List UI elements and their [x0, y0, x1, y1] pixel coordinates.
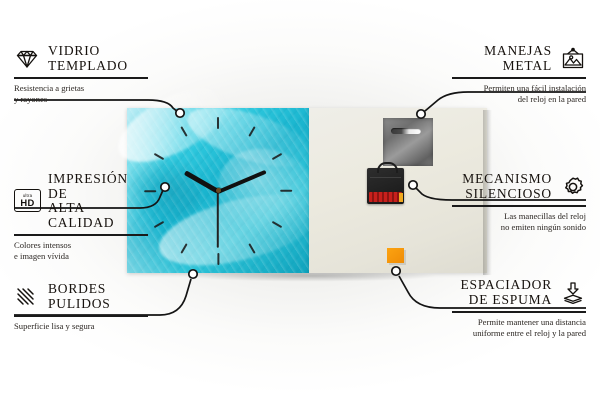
- callout-description: Colores intensos e imagen vívida: [14, 240, 148, 262]
- callout-vidrio-templado: VIDRIO TEMPLADO Resistencia a grietas y …: [14, 44, 148, 105]
- callout-description: Resistencia a grietas y rayones: [14, 83, 148, 105]
- callout-impresion-alta-calidad: ultra HD IMPRESIÓN DE ALTA CALIDAD Color…: [14, 172, 148, 262]
- clock-tick: [248, 126, 255, 137]
- clock-tick: [154, 152, 165, 159]
- metal-hanger-plate: [383, 118, 433, 166]
- callout-title: MECANISMO SILENCIOSO: [462, 172, 552, 201]
- ultra-hd-icon: ultra HD: [14, 189, 40, 213]
- callout-header: BORDES PULIDOS: [14, 282, 148, 311]
- feather-highlight: [152, 181, 327, 279]
- clock-center-pin: [216, 188, 221, 193]
- callout-rule: [14, 315, 148, 317]
- callout-title: ESPACIADOR DE ESPUMA: [460, 278, 552, 307]
- callout-header: MANEJAS METAL: [452, 44, 586, 73]
- clock-tick: [248, 244, 255, 255]
- product-image: [127, 108, 487, 273]
- mechanism-loop: [377, 162, 398, 173]
- battery-terminal: [399, 193, 403, 202]
- diamond-icon: [14, 47, 40, 71]
- callout-title: IMPRESIÓN DE ALTA CALIDAD: [48, 172, 148, 230]
- clock-minute-hand: [217, 170, 266, 194]
- callout-title: MANEJAS METAL: [484, 44, 552, 73]
- callout-description: Permite mantener una distancia uniforme …: [452, 317, 586, 339]
- callout-rule: [452, 311, 586, 313]
- clock-tick: [217, 117, 219, 129]
- callout-rule: [14, 77, 148, 79]
- clock-tick: [272, 220, 283, 227]
- ultra-hd-icon-label: HD: [20, 198, 34, 207]
- foam-spacer: [387, 248, 404, 263]
- clock-hour-hand: [184, 170, 219, 193]
- clock-front-panel: [127, 108, 309, 273]
- callout-rule: [452, 205, 586, 207]
- arrow-onto-layers-icon: [560, 281, 586, 305]
- callout-title: BORDES PULIDOS: [48, 282, 111, 311]
- clock-tick: [154, 220, 165, 227]
- clock-second-hand: [217, 192, 219, 248]
- mechanism-seam: [370, 177, 401, 178]
- callout-header: ultra HD IMPRESIÓN DE ALTA CALIDAD: [14, 172, 148, 230]
- infographic-canvas: VIDRIO TEMPLADO Resistencia a grietas y …: [0, 0, 600, 400]
- clock-tick: [180, 244, 187, 255]
- callout-manejas-metal: MANEJAS METAL Permiten una fácil instala…: [452, 44, 586, 105]
- battery-compartment: [369, 192, 402, 202]
- clock-tick: [217, 253, 219, 265]
- callout-header: MECANISMO SILENCIOSO: [452, 172, 586, 201]
- callout-header: VIDRIO TEMPLADO: [14, 44, 148, 73]
- callout-bordes-pulidos: BORDES PULIDOS Superficie lisa y segura: [14, 282, 148, 332]
- callout-description: Permiten una fácil instalación del reloj…: [452, 83, 586, 105]
- callout-espaciador-de-espuma: ESPACIADOR DE ESPUMA Permite mantener un…: [452, 278, 586, 339]
- callout-description: Las manecillas del reloj no emiten ningú…: [452, 211, 586, 233]
- feather-highlight: [181, 95, 319, 179]
- clock-mechanism: [367, 168, 404, 204]
- clock-tick: [280, 189, 292, 191]
- callout-description: Superficie lisa y segura: [14, 321, 148, 332]
- picture-frame-hanger-icon: [560, 47, 586, 71]
- callout-header: ESPACIADOR DE ESPUMA: [452, 278, 586, 307]
- clock-tick: [272, 152, 283, 159]
- polished-edges-icon: [14, 285, 40, 309]
- callout-rule: [452, 77, 586, 79]
- callout-mecanismo-silencioso: MECANISMO SILENCIOSO Las manecillas del …: [452, 172, 586, 233]
- gear-icon: [560, 175, 586, 199]
- hanger-slot: [391, 128, 421, 134]
- callout-rule: [14, 234, 148, 236]
- clock-tick: [180, 126, 187, 137]
- callout-title: VIDRIO TEMPLADO: [48, 44, 128, 73]
